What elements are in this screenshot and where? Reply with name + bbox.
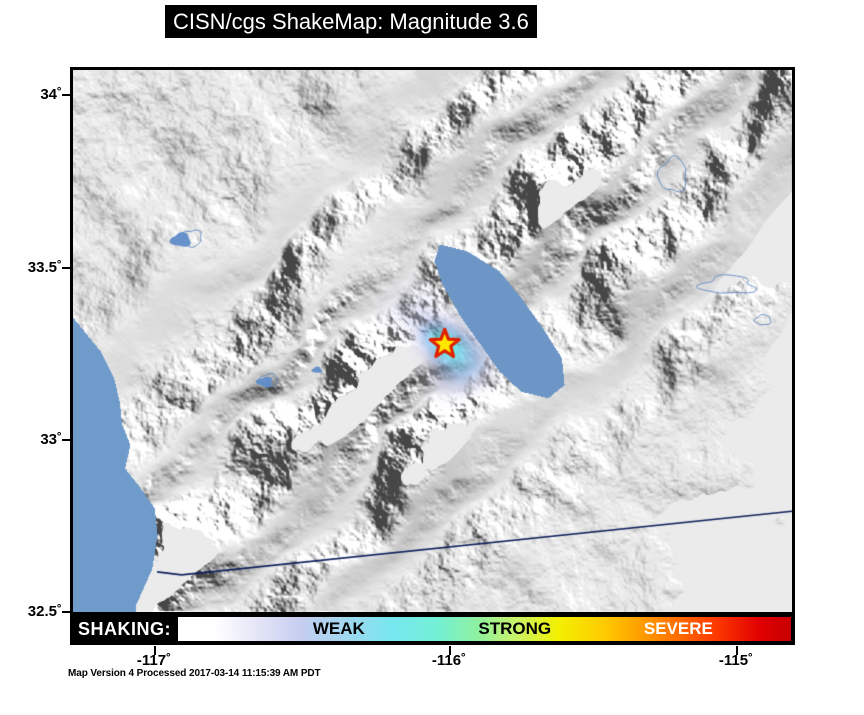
intensity-gradient-bar: WEAK STRONG SEVERE xyxy=(177,616,792,642)
lat-label-32-5: 32.5˚ xyxy=(10,603,62,620)
lon-label-117: -117˚ xyxy=(114,652,194,669)
map-title: CISN/cgs ShakeMap: Magnitude 3.6 xyxy=(165,5,537,38)
shaking-legend-label: SHAKING: xyxy=(72,619,177,640)
lat-label-33-5: 33.5˚ xyxy=(10,259,62,276)
map-version-footer: Map Version 4 Processed 2017-03-14 11:15… xyxy=(68,668,321,679)
lat-label-33: 33˚ xyxy=(22,431,62,448)
legend-strong-label: STRONG xyxy=(478,619,551,639)
lat-label-34: 34˚ xyxy=(22,86,62,103)
lon-label-115: -115˚ xyxy=(696,652,776,669)
shaking-legend: SHAKING: WEAK STRONG SEVERE xyxy=(70,613,795,645)
lon-label-116: -116˚ xyxy=(409,652,489,669)
map-raster xyxy=(73,70,792,612)
legend-weak-label: WEAK xyxy=(313,619,365,639)
shakemap-page: 34˚ 33.5˚ 33˚ 32.5˚ CISN/cgs ShakeMap: M… xyxy=(0,0,864,715)
shakemap-map[interactable] xyxy=(70,67,795,615)
legend-severe-label: SEVERE xyxy=(644,619,713,639)
